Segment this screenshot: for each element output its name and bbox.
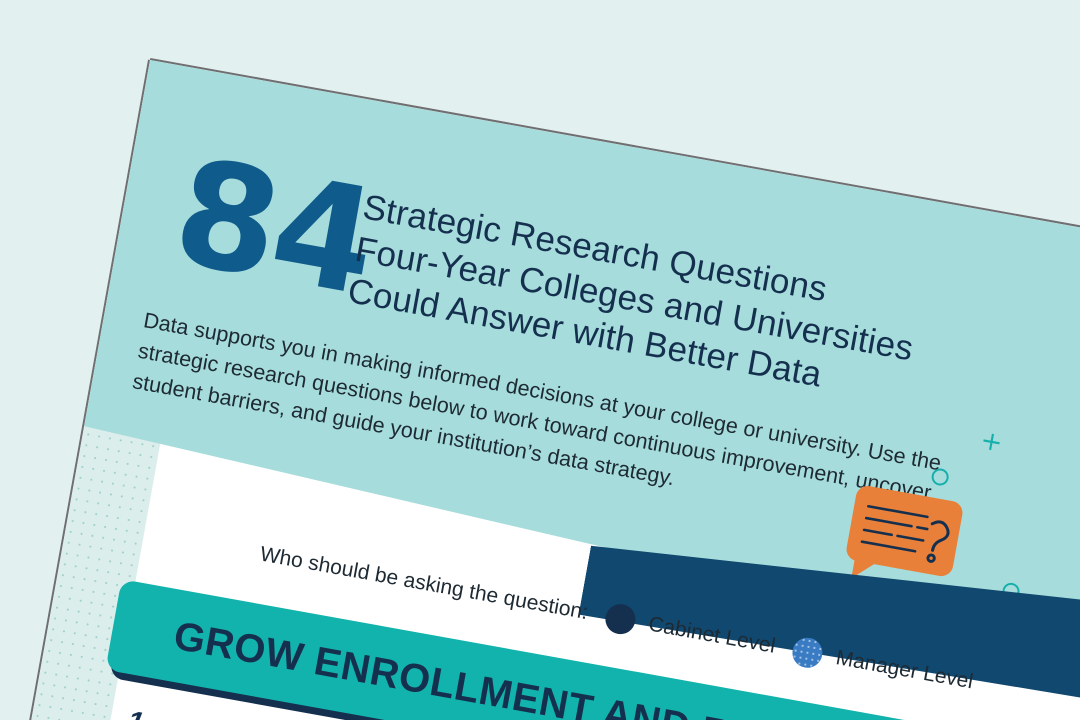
screenshot-canvas: 84 Strategic Research Questions Four-Yea… <box>0 0 1080 720</box>
question-number: 1 <box>116 703 155 720</box>
cabinet-level-dot-icon <box>603 602 638 637</box>
plus-mark-1-icon: + <box>979 427 1005 456</box>
infographic-sheet: 84 Strategic Research Questions Four-Yea… <box>0 60 1080 720</box>
manager-level-dot-icon <box>790 635 825 670</box>
